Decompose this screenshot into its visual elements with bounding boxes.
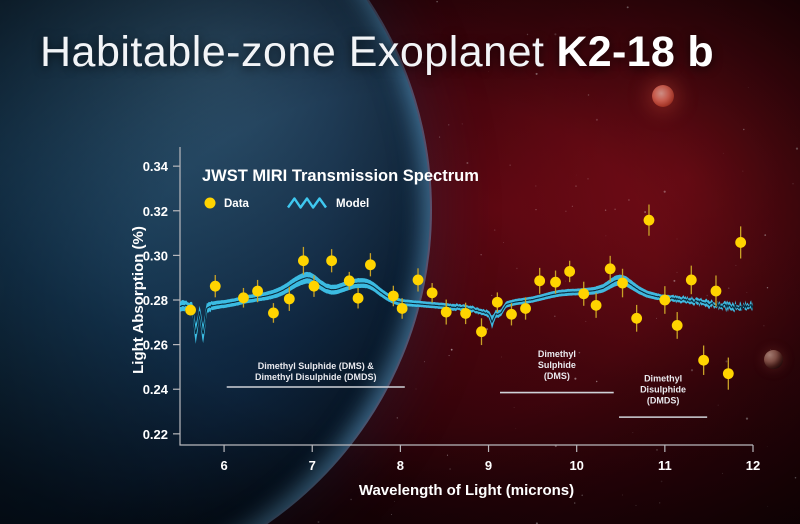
data-point (365, 259, 376, 270)
data-point (698, 355, 709, 366)
data-point (492, 297, 503, 308)
data-point (711, 286, 722, 297)
legend-data-marker (205, 198, 216, 209)
data-point (686, 275, 697, 286)
data-point (631, 313, 642, 324)
data-point (672, 320, 683, 331)
data-point (326, 255, 337, 266)
data-point (309, 281, 320, 292)
data-point (460, 308, 471, 319)
annotation-label: Dimethyl (538, 349, 576, 359)
plot-title: JWST MIRI Transmission Spectrum (202, 167, 479, 185)
figure-root: Habitable-zone Exoplanet K2-18 b 0.220.2… (0, 0, 800, 524)
data-point (252, 286, 263, 297)
data-point (520, 303, 531, 314)
x-tick-label: 9 (485, 458, 492, 473)
data-point (735, 237, 746, 248)
data-point (617, 278, 628, 289)
data-point (550, 277, 561, 288)
x-axis-label: Wavelength of Light (microns) (359, 482, 574, 499)
legend-model-label: Model (336, 198, 369, 210)
legend-data-label: Data (224, 198, 250, 210)
data-point (476, 326, 487, 337)
annotation-label: Dimethyl (644, 373, 682, 383)
x-tick-label: 11 (658, 458, 672, 473)
y-tick-label: 0.34 (143, 159, 169, 174)
y-axis-label: Light Absorption (%) (130, 226, 147, 374)
annotation-label: (DMS) (544, 371, 570, 381)
y-tick-label: 0.24 (143, 382, 169, 397)
data-point (578, 288, 589, 299)
data-point (388, 291, 399, 302)
data-point (441, 307, 452, 318)
annotation-label: Disulphide (640, 384, 686, 394)
annotation-label: Dimethyl Sulphide (DMS) & (258, 361, 375, 371)
x-tick-label: 7 (309, 458, 316, 473)
annotation-label: (DMDS) (647, 395, 680, 405)
data-point (353, 293, 364, 304)
annotation-label: Sulphide (538, 360, 576, 370)
data-point (284, 293, 295, 304)
data-point (534, 275, 545, 286)
data-point (397, 303, 408, 314)
data-point (659, 295, 670, 306)
x-tick-label: 10 (569, 458, 583, 473)
x-tick-label: 6 (220, 458, 227, 473)
data-point (605, 263, 616, 274)
y-tick-label: 0.22 (143, 427, 168, 442)
annotation-label: Dimethyl Disulphide (DMDS) (255, 372, 377, 382)
data-point (564, 266, 575, 277)
x-tick-label: 8 (397, 458, 404, 473)
data-point (723, 368, 734, 379)
data-point (238, 292, 249, 303)
data-point (427, 287, 438, 298)
data-point (185, 305, 196, 316)
data-point (344, 275, 355, 286)
y-tick-label: 0.32 (143, 204, 168, 219)
legend-model-marker (288, 199, 326, 208)
transmission-spectrum-chart: 0.220.240.260.280.300.320.346789101112Wa… (0, 0, 800, 524)
data-point (644, 215, 655, 226)
data-point (298, 255, 309, 266)
data-point (210, 281, 221, 292)
data-point (268, 308, 279, 319)
data-point (413, 275, 424, 286)
data-point (591, 300, 602, 311)
x-tick-label: 12 (746, 458, 760, 473)
data-point (506, 309, 517, 320)
